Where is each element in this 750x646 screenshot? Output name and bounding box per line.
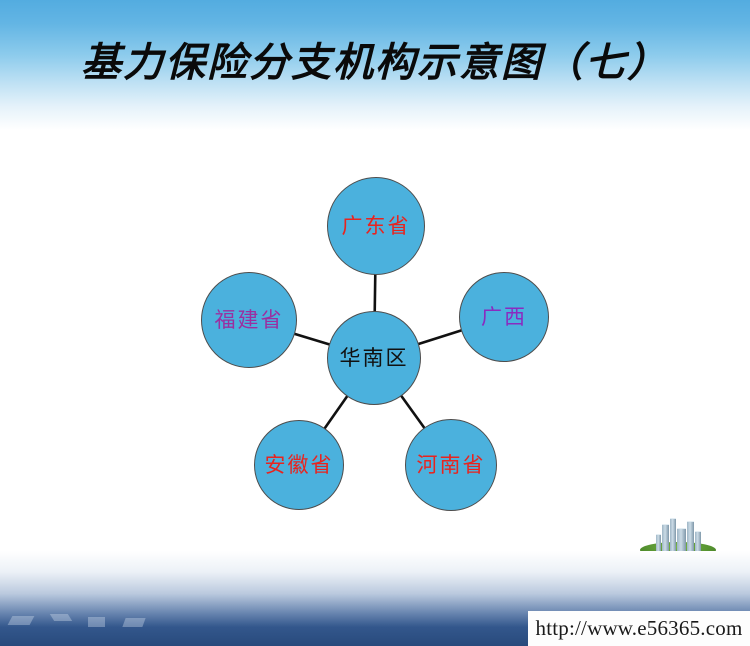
- building-4: [687, 521, 694, 551]
- water-speck-4: [122, 618, 145, 627]
- building-5: [695, 531, 701, 551]
- diagram-node-label: 广东省: [342, 216, 411, 237]
- diagram-node-branch-1[interactable]: 福建省: [201, 272, 297, 368]
- diagram-node-branch-2[interactable]: 广西: [459, 272, 549, 362]
- diagram-node-label: 河南省: [417, 455, 486, 476]
- diagram-node-label: 广西: [481, 307, 527, 328]
- diagram-node-label: 安徽省: [265, 455, 334, 476]
- building-2: [670, 518, 676, 551]
- building-6: [656, 534, 661, 551]
- diagram-node-center[interactable]: 华南区: [327, 311, 421, 405]
- diagram-node-branch-3[interactable]: 安徽省: [254, 420, 344, 510]
- diagram-node-branch-4[interactable]: 河南省: [405, 419, 497, 511]
- water-speck-1: [8, 616, 35, 625]
- water-specks: [0, 604, 300, 640]
- diagram-node-label: 华南区: [340, 348, 409, 369]
- building-3: [677, 528, 686, 551]
- building-1: [662, 524, 669, 551]
- watermark: http://www.e56365.com: [528, 611, 750, 646]
- slide-canvas: 基力保险分支机构示意图（七） 广东省福建省广西安徽省河南省华南区 http://…: [0, 0, 750, 646]
- diagram-node-label: 福建省: [215, 310, 284, 331]
- watermark-url: http://www.e56365.com: [536, 616, 743, 641]
- diagram-node-branch-0[interactable]: 广东省: [327, 177, 425, 275]
- water-speck-3: [88, 617, 105, 627]
- water-speck-2: [50, 614, 72, 621]
